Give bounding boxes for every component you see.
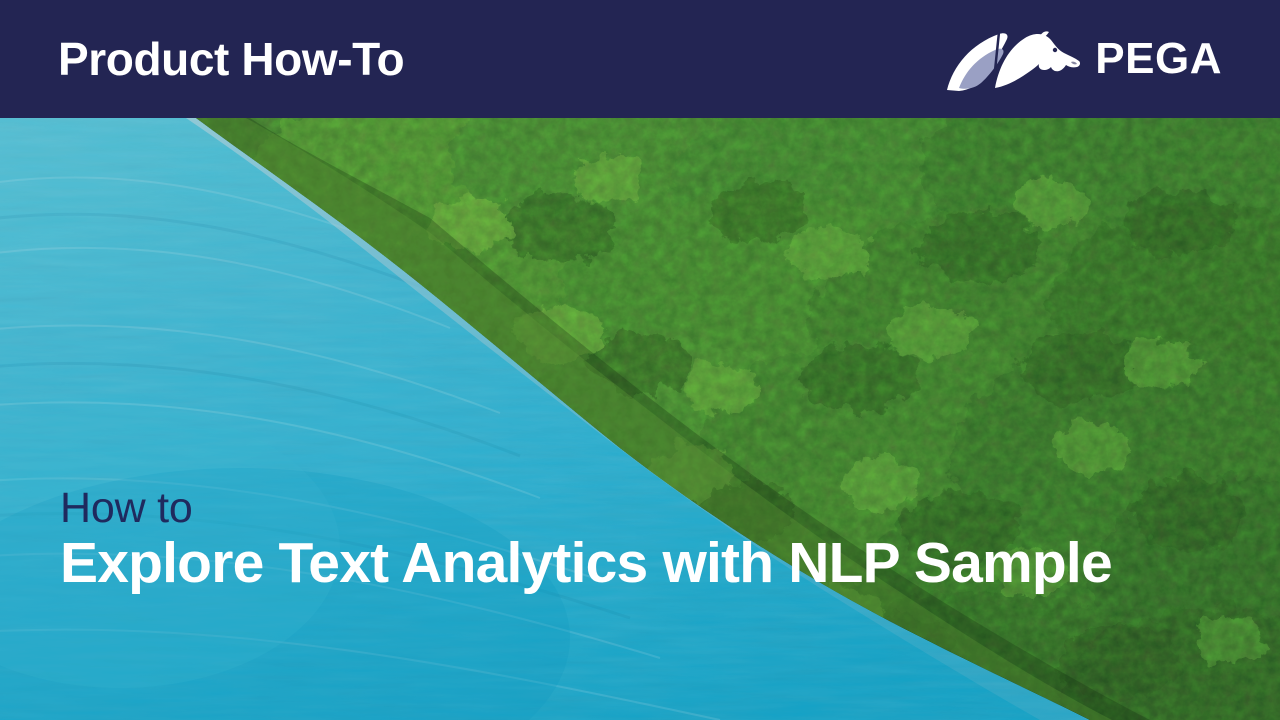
pega-wordmark: PEGA (1095, 37, 1222, 81)
header-bar: Product How-To PEGA (0, 0, 1280, 118)
eyebrow-text: How to (60, 486, 1112, 531)
background-photo (0, 118, 1280, 720)
title-slide: How to Explore Text Analytics with NLP S… (0, 0, 1280, 720)
header-title: Product How-To (58, 36, 404, 82)
pega-horse-logo-icon (943, 26, 1083, 92)
pega-logo[interactable]: PEGA (943, 24, 1222, 94)
title-block: How to Explore Text Analytics with NLP S… (60, 486, 1112, 594)
page-title: Explore Text Analytics with NLP Sample (60, 533, 1112, 595)
background-photo-illustration (0, 118, 1280, 720)
